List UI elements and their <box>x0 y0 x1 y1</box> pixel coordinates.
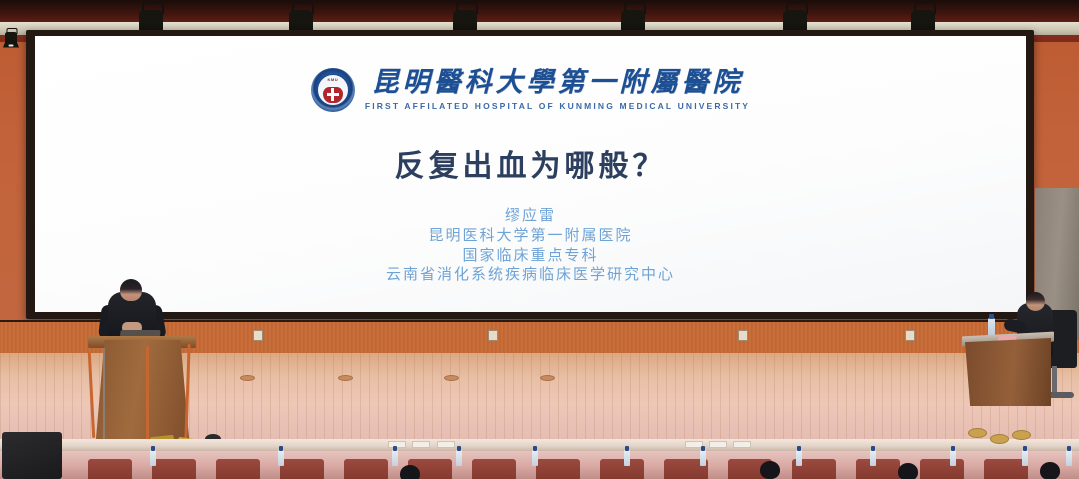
audience-seat <box>920 459 964 479</box>
chair-stem <box>1052 366 1057 394</box>
floor-vent <box>444 375 459 381</box>
water-bottle <box>392 450 398 466</box>
water-bottle <box>456 450 462 466</box>
hospital-emblem-icon: KMU <box>311 68 355 112</box>
presenter-head <box>120 279 142 301</box>
audience-head <box>400 465 420 479</box>
presenter-affiliation-1: 昆明医科大学第一附属医院 <box>35 226 1026 246</box>
paper-on-floor <box>412 441 430 448</box>
shoes-on-floor <box>968 428 987 438</box>
projection-screen-frame: KMU 昆明醫科大學第一附屬醫院 FIRST AFFILATED HOSPITA… <box>26 30 1034 319</box>
audience-seat <box>856 459 900 479</box>
water-bottle <box>1066 450 1072 466</box>
water-bottle <box>1022 450 1028 466</box>
presenter-affiliation-3: 云南省消化系统疾病临床医学研究中心 <box>35 265 1026 285</box>
projection-screen: KMU 昆明醫科大學第一附屬醫院 FIRST AFFILATED HOSPITA… <box>35 36 1026 312</box>
audience-head <box>898 463 918 479</box>
stage-light-icon <box>5 28 18 48</box>
slide-title: 反复出血为哪般？ <box>35 141 1026 185</box>
water-bottle <box>870 450 876 466</box>
auditorium-scene: KMU 昆明醫科大學第一附屬醫院 FIRST AFFILATED HOSPITA… <box>0 0 1079 479</box>
hospital-name-english: FIRST AFFILATED HOSPITAL OF KUNMING MEDI… <box>365 101 750 111</box>
audience-seat <box>280 459 324 479</box>
paper-on-floor <box>437 441 455 448</box>
paper-on-floor <box>709 441 727 448</box>
hospital-logo: KMU 昆明醫科大學第一附屬醫院 FIRST AFFILATED HOSPITA… <box>35 68 1026 112</box>
stage-apron <box>0 439 1079 451</box>
shoes-on-floor <box>1012 430 1031 440</box>
floor-vent <box>338 375 353 381</box>
presenter-name: 缪应雷 <box>35 206 1026 226</box>
floor-vent <box>540 375 555 381</box>
wall-outlet <box>488 330 498 341</box>
floor-loudspeaker <box>2 432 62 479</box>
wall-outlet <box>738 330 748 341</box>
audience-head <box>1040 462 1060 479</box>
cable <box>146 346 149 440</box>
audience-seat <box>600 459 644 479</box>
water-bottle <box>950 450 956 466</box>
water-bottle <box>700 450 706 466</box>
emblem-abbr: KMU <box>311 77 355 82</box>
audience-seat <box>152 459 196 479</box>
audience-front-row <box>0 451 1079 479</box>
water-bottle <box>532 450 538 466</box>
audience-seat <box>216 459 260 479</box>
audience-seat <box>344 459 388 479</box>
presenter-block: 缪应雷 昆明医科大学第一附属医院 国家临床重点专科 云南省消化系统疾病临床医学研… <box>35 206 1026 285</box>
side-desk <box>965 338 1051 406</box>
water-bottle <box>278 450 284 466</box>
floor-vent <box>240 375 255 381</box>
paper-on-floor <box>733 441 751 448</box>
audience-seat <box>472 459 516 479</box>
wall-outlet <box>253 330 263 341</box>
water-bottle <box>150 450 156 466</box>
audience-seat <box>88 459 132 479</box>
water-bottle <box>796 450 802 466</box>
microphone-stand <box>103 348 105 446</box>
shoes-on-floor <box>990 434 1009 444</box>
presenter-affiliation-2: 国家临床重点专科 <box>35 246 1026 266</box>
seated-person-head <box>1026 292 1045 311</box>
audience-head <box>760 461 780 479</box>
wall-outlet <box>905 330 915 341</box>
hospital-logo-text: 昆明醫科大學第一附屬醫院 FIRST AFFILATED HOSPITAL OF… <box>365 69 750 111</box>
paper-on-floor <box>388 441 406 448</box>
hospital-name-chinese: 昆明醫科大學第一附屬醫院 <box>371 69 743 96</box>
podium <box>95 340 190 450</box>
presentation-slide: KMU 昆明醫科大學第一附屬醫院 FIRST AFFILATED HOSPITA… <box>35 36 1026 312</box>
audience-seat <box>536 459 580 479</box>
water-bottle <box>624 450 630 466</box>
